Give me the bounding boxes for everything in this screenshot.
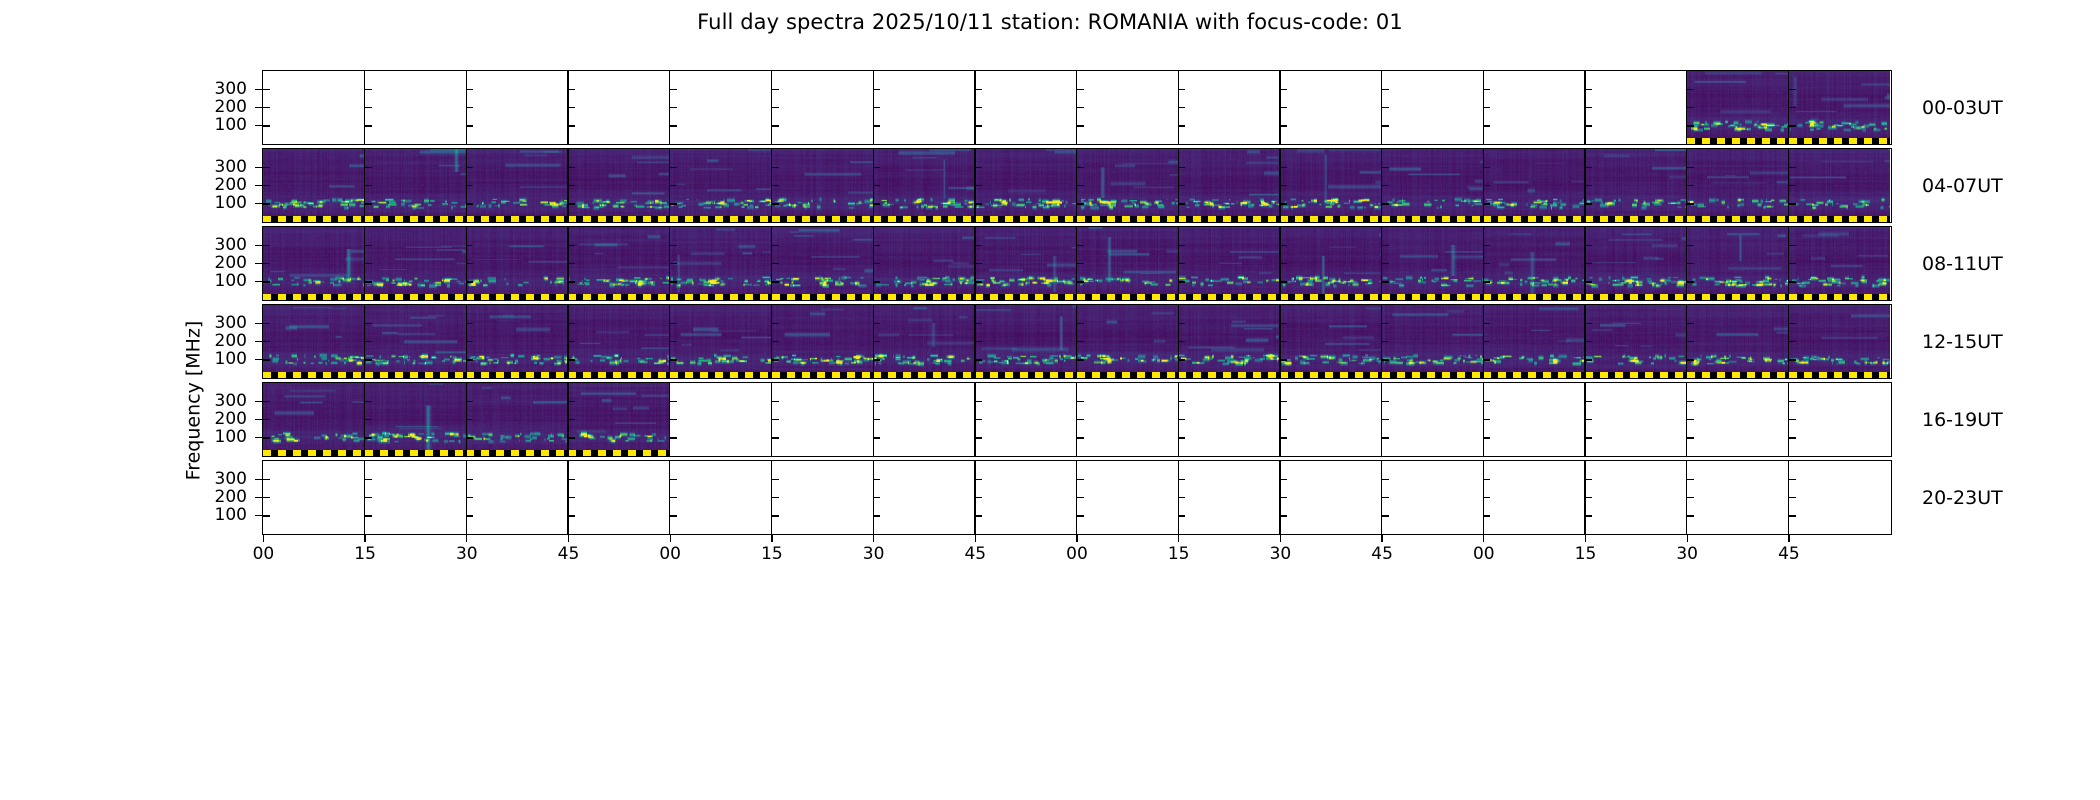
flagged-data-dash-marker — [1280, 372, 1382, 378]
flagged-data-dash-marker — [1789, 216, 1891, 222]
spectrogram-panel[interactable] — [1789, 227, 1891, 300]
spectrogram-panel[interactable] — [975, 383, 1077, 456]
spectrogram-image — [873, 305, 975, 378]
y-tick-mark — [1483, 401, 1490, 402]
spectrogram-image — [568, 227, 670, 300]
y-tick-mark — [263, 125, 270, 126]
flagged-data-dash-marker — [1585, 294, 1687, 300]
spectrogram-row-inner — [263, 305, 1891, 378]
spectrogram-row[interactable] — [262, 148, 1892, 223]
spectrogram-panel[interactable] — [873, 227, 975, 300]
x-tick-label: 45 — [1371, 546, 1393, 563]
y-tick-mark — [1687, 203, 1694, 204]
y-tick-mark — [1178, 167, 1185, 168]
spectrogram-panel[interactable] — [1585, 305, 1687, 378]
y-tick-mark — [365, 167, 372, 168]
flagged-data-dash-marker — [975, 294, 1077, 300]
flagged-data-dash-marker — [1077, 372, 1179, 378]
spectrogram-panel[interactable] — [1178, 383, 1280, 456]
y-tick-mark — [1178, 245, 1185, 246]
y-tick-mark — [1687, 125, 1694, 126]
spectrogram-panel[interactable] — [1382, 461, 1484, 534]
y-tick-mark — [1585, 167, 1592, 168]
flagged-data-dash-marker — [1687, 294, 1789, 300]
y-tick-mark — [1687, 497, 1694, 498]
spectrogram-panel[interactable] — [1280, 461, 1382, 534]
y-tick-mark — [1483, 203, 1490, 204]
y-tick-mark-outer — [255, 479, 262, 480]
spectrogram-panel[interactable] — [975, 305, 1077, 378]
spectrogram-panel[interactable] — [1687, 71, 1789, 144]
y-tick-mark — [1280, 167, 1287, 168]
spectrogram-panel[interactable] — [873, 461, 975, 534]
spectrogram-image — [1178, 305, 1280, 378]
row-time-range-label: 12-15UT — [1922, 333, 2003, 352]
spectrogram-panel[interactable] — [1077, 227, 1179, 300]
y-tick-mark — [975, 167, 982, 168]
spectrogram-row[interactable] — [262, 70, 1892, 145]
y-tick-label: 200 — [167, 333, 247, 350]
y-tick-mark — [263, 359, 270, 360]
y-tick-mark — [1483, 437, 1490, 438]
y-tick-mark — [1483, 185, 1490, 186]
x-tick-label: 30 — [456, 546, 478, 563]
y-tick-mark — [873, 185, 880, 186]
x-tick-label: 00 — [1066, 546, 1088, 563]
spectrogram-panel[interactable] — [975, 227, 1077, 300]
y-tick-mark — [1382, 359, 1389, 360]
spectrogram-panel[interactable] — [1178, 305, 1280, 378]
spectrogram-panel[interactable] — [772, 227, 874, 300]
flagged-data-dash-marker — [365, 450, 467, 456]
y-tick-mark — [1483, 107, 1490, 108]
y-tick-mark — [1585, 437, 1592, 438]
y-tick-mark — [1178, 185, 1185, 186]
y-tick-mark — [670, 263, 677, 264]
spectrogram-panel[interactable] — [568, 149, 670, 222]
y-tick-mark — [466, 323, 473, 324]
spectrogram-panel[interactable] — [975, 149, 1077, 222]
y-tick-mark — [1585, 263, 1592, 264]
y-tick-mark — [772, 125, 779, 126]
flagged-data-dash-marker — [1789, 294, 1891, 300]
y-tick-mark — [772, 419, 779, 420]
spectrogram-panel[interactable] — [1077, 149, 1179, 222]
spectrogram-panel[interactable] — [1077, 383, 1179, 456]
spectrogram-panel[interactable] — [568, 461, 670, 534]
flagged-data-dash-marker — [1178, 294, 1280, 300]
y-tick-mark — [466, 359, 473, 360]
y-tick-mark — [1585, 479, 1592, 480]
spectrogram-panel[interactable] — [670, 227, 772, 300]
y-tick-mark — [1687, 419, 1694, 420]
y-tick-mark — [1280, 263, 1287, 264]
spectrogram-panel[interactable] — [1585, 71, 1687, 144]
y-tick-mark — [263, 515, 270, 516]
y-tick-mark — [1280, 245, 1287, 246]
spectrogram-panel[interactable] — [1789, 71, 1891, 144]
y-tick-mark — [1585, 107, 1592, 108]
y-tick-mark — [1789, 401, 1796, 402]
spectrogram-row-inner — [263, 71, 1891, 144]
y-tick-mark — [975, 515, 982, 516]
y-tick-mark — [975, 479, 982, 480]
y-tick-mark-outer — [255, 167, 262, 168]
y-tick-mark-outer — [255, 437, 262, 438]
flagged-data-dash-marker — [263, 216, 365, 222]
y-tick-mark — [670, 281, 677, 282]
flagged-data-dash-marker — [873, 294, 975, 300]
y-tick-mark — [975, 263, 982, 264]
y-tick-mark-outer — [255, 245, 262, 246]
spectrogram-row-inner — [263, 149, 1891, 222]
spectrogram-panel[interactable] — [873, 149, 975, 222]
spectrogram-row[interactable] — [262, 226, 1892, 301]
spectrogram-image — [1687, 227, 1789, 300]
y-tick-mark — [1382, 167, 1389, 168]
y-tick-mark — [568, 359, 575, 360]
y-tick-mark — [466, 515, 473, 516]
y-tick-mark — [466, 281, 473, 282]
x-tick-mark — [1585, 535, 1586, 542]
spectrogram-panel[interactable] — [263, 71, 365, 144]
y-tick-mark — [1077, 341, 1084, 342]
spectrogram-panel[interactable] — [365, 461, 467, 534]
y-tick-mark — [1483, 89, 1490, 90]
spectrogram-panel[interactable] — [365, 149, 467, 222]
spectrogram-panel[interactable] — [670, 383, 772, 456]
spectrogram-row[interactable] — [262, 460, 1892, 535]
y-tick-mark — [263, 479, 270, 480]
x-tick-mark — [263, 535, 264, 542]
spectrogram-panel[interactable] — [1687, 383, 1789, 456]
spectrogram-panel[interactable] — [873, 71, 975, 144]
y-tick-mark — [772, 359, 779, 360]
spectrogram-panel[interactable] — [1382, 305, 1484, 378]
y-tick-mark — [1178, 125, 1185, 126]
y-tick-mark — [1687, 263, 1694, 264]
y-tick-mark — [1178, 107, 1185, 108]
flagged-data-dash-marker — [670, 294, 772, 300]
x-tick-label: 00 — [253, 546, 275, 563]
spectrogram-panel[interactable] — [263, 461, 365, 534]
spectrogram-panel[interactable] — [568, 383, 670, 456]
y-tick-mark — [263, 497, 270, 498]
spectrogram-panel[interactable] — [466, 227, 568, 300]
y-tick-mark — [365, 203, 372, 204]
y-tick-mark — [873, 89, 880, 90]
spectrogram-panel[interactable] — [1382, 227, 1484, 300]
spectrogram-row-inner — [263, 383, 1891, 456]
y-tick-mark — [466, 401, 473, 402]
spectrogram-panel[interactable] — [365, 227, 467, 300]
y-tick-mark — [975, 359, 982, 360]
y-tick-mark-outer — [255, 185, 262, 186]
y-tick-mark — [466, 341, 473, 342]
spectrogram-image — [1483, 305, 1585, 378]
y-tick-mark — [1382, 497, 1389, 498]
spectrogram-image — [1789, 227, 1891, 300]
y-tick-mark — [772, 245, 779, 246]
y-tick-mark — [1382, 185, 1389, 186]
spectrogram-panel[interactable] — [1687, 227, 1789, 300]
y-tick-mark — [466, 419, 473, 420]
spectrogram-panel[interactable] — [568, 227, 670, 300]
y-tick-mark — [263, 263, 270, 264]
spectrogram-panel[interactable] — [1789, 461, 1891, 534]
spectrogram-panel[interactable] — [1280, 383, 1382, 456]
y-tick-mark — [1077, 185, 1084, 186]
spectrogram-panel[interactable] — [1789, 149, 1891, 222]
spectrogram-image — [365, 305, 467, 378]
y-tick-mark — [568, 419, 575, 420]
y-tick-mark — [466, 185, 473, 186]
y-tick-mark — [466, 203, 473, 204]
spectrogram-panel[interactable] — [1178, 71, 1280, 144]
spectrogram-panel[interactable] — [1483, 71, 1585, 144]
y-tick-mark — [1585, 401, 1592, 402]
y-tick-mark — [873, 497, 880, 498]
spectrogram-panel[interactable] — [568, 71, 670, 144]
y-tick-mark — [568, 245, 575, 246]
y-tick-mark-outer — [255, 401, 262, 402]
spectrogram-panel[interactable] — [873, 383, 975, 456]
spectrogram-panel[interactable] — [1382, 149, 1484, 222]
row-time-range-label: 08-11UT — [1922, 255, 2003, 274]
y-tick-mark — [1585, 323, 1592, 324]
spectrogram-panel[interactable] — [1483, 227, 1585, 300]
y-tick-mark — [1178, 497, 1185, 498]
spectrogram-image — [466, 227, 568, 300]
flagged-data-dash-marker — [466, 216, 568, 222]
y-tick-mark — [1077, 515, 1084, 516]
y-tick-mark — [1483, 125, 1490, 126]
y-tick-mark — [466, 107, 473, 108]
spectrogram-panel[interactable] — [1178, 227, 1280, 300]
spectrogram-panel[interactable] — [1585, 149, 1687, 222]
flagged-data-dash-marker — [772, 372, 874, 378]
y-tick-mark — [1789, 185, 1796, 186]
y-tick-mark — [365, 185, 372, 186]
spectrogram-panel[interactable] — [1687, 305, 1789, 378]
spectrogram-image — [1382, 149, 1484, 222]
y-tick-mark — [772, 185, 779, 186]
spectrogram-panel[interactable] — [1483, 305, 1585, 378]
y-tick-mark-outer — [255, 263, 262, 264]
spectrogram-panel[interactable] — [365, 71, 467, 144]
flagged-data-dash-marker — [365, 372, 467, 378]
spectrogram-panel[interactable] — [772, 383, 874, 456]
y-tick-mark — [1280, 479, 1287, 480]
spectrogram-panel[interactable] — [1382, 71, 1484, 144]
y-tick-label: 200 — [167, 411, 247, 428]
y-tick-mark — [975, 281, 982, 282]
y-tick-mark — [1382, 125, 1389, 126]
y-tick-mark — [873, 341, 880, 342]
y-tick-mark — [670, 419, 677, 420]
spectrogram-panel[interactable] — [1382, 383, 1484, 456]
spectrogram-panel[interactable] — [1077, 305, 1179, 378]
spectrogram-image — [975, 149, 1077, 222]
y-tick-mark — [1789, 497, 1796, 498]
spectrogram-panel[interactable] — [263, 305, 365, 378]
y-tick-mark — [1178, 89, 1185, 90]
spectrogram-panel[interactable] — [670, 71, 772, 144]
y-tick-label: 300 — [167, 393, 247, 410]
y-tick-mark — [568, 281, 575, 282]
flagged-data-dash-marker — [975, 372, 1077, 378]
flagged-data-dash-marker — [1280, 216, 1382, 222]
spectrogram-panel[interactable] — [263, 227, 365, 300]
spectrogram-panel[interactable] — [263, 383, 365, 456]
spectrogram-image — [873, 149, 975, 222]
spectrogram-image — [1789, 149, 1891, 222]
spectrogram-image — [568, 305, 670, 378]
spectrogram-row-inner — [263, 461, 1891, 534]
flagged-data-dash-marker — [873, 216, 975, 222]
spectrogram-image — [263, 227, 365, 300]
spectrogram-panel[interactable] — [873, 305, 975, 378]
y-tick-mark — [873, 263, 880, 264]
y-tick-mark — [1178, 419, 1185, 420]
y-tick-mark — [365, 89, 372, 90]
y-tick-mark — [873, 401, 880, 402]
spectrogram-panel[interactable] — [1077, 71, 1179, 144]
y-tick-mark — [1077, 323, 1084, 324]
flagged-data-dash-marker — [772, 294, 874, 300]
spectrogram-image — [1280, 305, 1382, 378]
spectrogram-panel[interactable] — [263, 149, 365, 222]
y-tick-mark — [1789, 89, 1796, 90]
flagged-data-dash-marker — [1382, 216, 1484, 222]
y-tick-mark — [263, 419, 270, 420]
spectrogram-panel[interactable] — [975, 461, 1077, 534]
y-tick-mark — [263, 185, 270, 186]
y-tick-mark — [1077, 401, 1084, 402]
spectrogram-panel[interactable] — [1280, 71, 1382, 144]
y-tick-mark — [772, 89, 779, 90]
flagged-data-dash-marker — [568, 216, 670, 222]
flagged-data-dash-marker — [263, 372, 365, 378]
y-tick-mark — [466, 437, 473, 438]
spectrogram-panel[interactable] — [772, 461, 874, 534]
y-tick-mark — [365, 245, 372, 246]
spectrogram-panel[interactable] — [466, 71, 568, 144]
spectrogram-panel[interactable] — [365, 305, 467, 378]
spectrogram-panel[interactable] — [568, 305, 670, 378]
x-tick-mark — [1280, 535, 1281, 542]
y-tick-mark — [568, 167, 575, 168]
y-tick-mark — [1483, 341, 1490, 342]
y-tick-mark — [365, 419, 372, 420]
spectrogram-panel[interactable] — [466, 305, 568, 378]
x-tick-mark — [873, 535, 874, 542]
spectrogram-panel[interactable] — [1687, 461, 1789, 534]
y-tick-mark — [365, 401, 372, 402]
y-tick-mark — [772, 401, 779, 402]
spectrogram-panel[interactable] — [466, 149, 568, 222]
y-tick-mark — [1280, 419, 1287, 420]
spectrogram-panel[interactable] — [1585, 461, 1687, 534]
spectrogram-image — [263, 149, 365, 222]
y-tick-mark — [1077, 359, 1084, 360]
spectrogram-panel[interactable] — [772, 71, 874, 144]
y-tick-mark — [873, 245, 880, 246]
spectrogram-image — [1382, 227, 1484, 300]
spectrogram-panel[interactable] — [466, 383, 568, 456]
y-tick-mark — [1483, 515, 1490, 516]
flagged-data-dash-marker — [466, 372, 568, 378]
y-tick-mark — [568, 515, 575, 516]
spectrogram-panel[interactable] — [1280, 305, 1382, 378]
y-tick-mark-outer — [255, 107, 262, 108]
y-tick-mark — [568, 401, 575, 402]
spectrogram-panel[interactable] — [975, 71, 1077, 144]
flagged-data-dash-marker — [568, 450, 670, 456]
spectrogram-row[interactable] — [262, 382, 1892, 457]
y-tick-mark — [365, 437, 372, 438]
y-tick-mark — [1687, 341, 1694, 342]
y-tick-mark — [670, 323, 677, 324]
y-tick-mark — [568, 107, 575, 108]
y-tick-mark — [1789, 281, 1796, 282]
spectrogram-panel[interactable] — [1483, 461, 1585, 534]
flagged-data-dash-marker — [263, 450, 365, 456]
spectrogram-panel[interactable] — [1178, 149, 1280, 222]
spectrogram-panel[interactable] — [1789, 305, 1891, 378]
spectrogram-panel[interactable] — [466, 461, 568, 534]
y-tick-mark — [772, 497, 779, 498]
y-tick-mark — [670, 245, 677, 246]
spectrogram-panel[interactable] — [772, 149, 874, 222]
spectrogram-panel[interactable] — [1483, 383, 1585, 456]
spectrogram-row[interactable] — [262, 304, 1892, 379]
y-tick-mark — [365, 359, 372, 360]
spectrogram-panel[interactable] — [1687, 149, 1789, 222]
x-tick-mark — [364, 535, 365, 542]
y-tick-mark — [1789, 245, 1796, 246]
y-tick-mark — [568, 479, 575, 480]
spectrogram-panel[interactable] — [365, 383, 467, 456]
y-tick-mark-outer — [255, 497, 262, 498]
spectrogram-panel[interactable] — [670, 461, 772, 534]
y-tick-mark — [263, 167, 270, 168]
spectrogram-panel[interactable] — [1280, 149, 1382, 222]
flagged-data-dash-marker — [466, 450, 568, 456]
spectrogram-panel[interactable] — [670, 149, 772, 222]
x-tick-label: 30 — [1676, 546, 1698, 563]
spectrogram-image — [1077, 305, 1179, 378]
y-tick-mark — [1687, 323, 1694, 324]
spectrogram-panel[interactable] — [1483, 149, 1585, 222]
y-tick-mark — [1585, 245, 1592, 246]
spectrogram-panel[interactable] — [1789, 383, 1891, 456]
spectrogram-panel[interactable] — [1077, 461, 1179, 534]
spectrogram-panel[interactable] — [1178, 461, 1280, 534]
spectrogram-panel[interactable] — [670, 305, 772, 378]
y-tick-mark-outer — [255, 281, 262, 282]
spectrogram-panel[interactable] — [772, 305, 874, 378]
y-tick-mark — [1789, 167, 1796, 168]
spectrogram-panel[interactable] — [1585, 227, 1687, 300]
spectrogram-panel[interactable] — [1280, 227, 1382, 300]
spectrogram-panel[interactable] — [1585, 383, 1687, 456]
y-tick-mark — [365, 263, 372, 264]
y-tick-mark — [1483, 263, 1490, 264]
y-tick-mark — [1280, 203, 1287, 204]
y-tick-label: 300 — [167, 237, 247, 254]
y-tick-mark — [1382, 203, 1389, 204]
